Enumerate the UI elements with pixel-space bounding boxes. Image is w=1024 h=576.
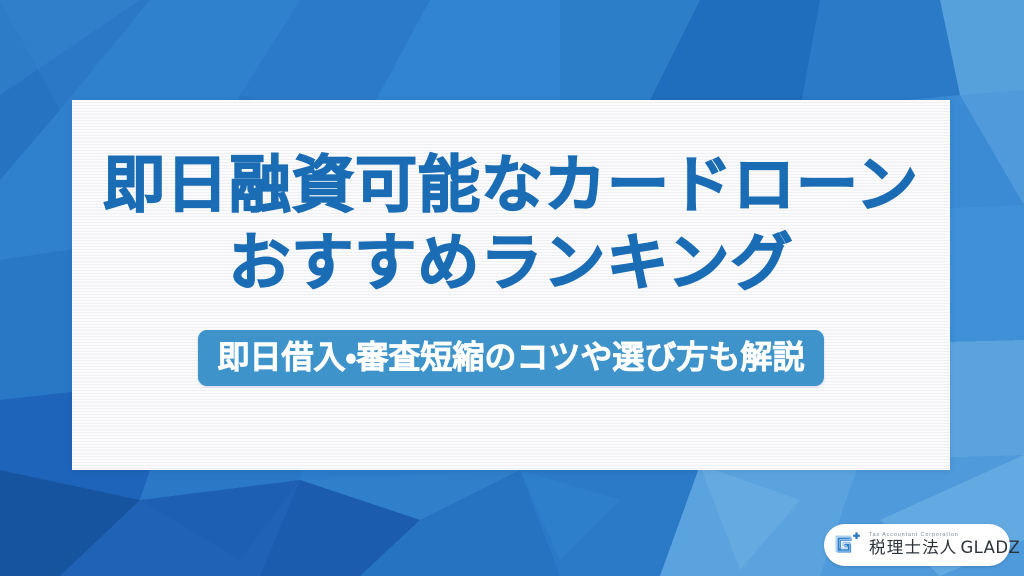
title-block: 即日融資可能なカードローン おすすめランキング — [72, 146, 950, 302]
title-line-1: 即日融資可能なカードローン — [103, 146, 919, 224]
brand-logo: Tax Accountant Corporation 税理士法人GLADZ — [824, 524, 1010, 566]
gladz-g-plus-icon — [834, 531, 862, 559]
subtitle-badge: 即日借入・審査短縮のコツや選び方も解説 — [198, 330, 825, 386]
logo-name-en: GLADZ — [961, 538, 1021, 557]
logo-name: 税理士法人GLADZ — [869, 540, 1020, 557]
logo-text-group: Tax Accountant Corporation 税理士法人GLADZ — [869, 533, 1020, 557]
logo-name-jp: 税理士法人 — [869, 538, 958, 557]
banner-canvas: 即日融資可能なカードローン おすすめランキング 即日借入・審査短縮のコツや選び方… — [0, 0, 1024, 576]
content-card: 即日融資可能なカードローン おすすめランキング 即日借入・審査短縮のコツや選び方… — [72, 100, 950, 470]
title-line-2: おすすめランキング — [228, 224, 793, 302]
